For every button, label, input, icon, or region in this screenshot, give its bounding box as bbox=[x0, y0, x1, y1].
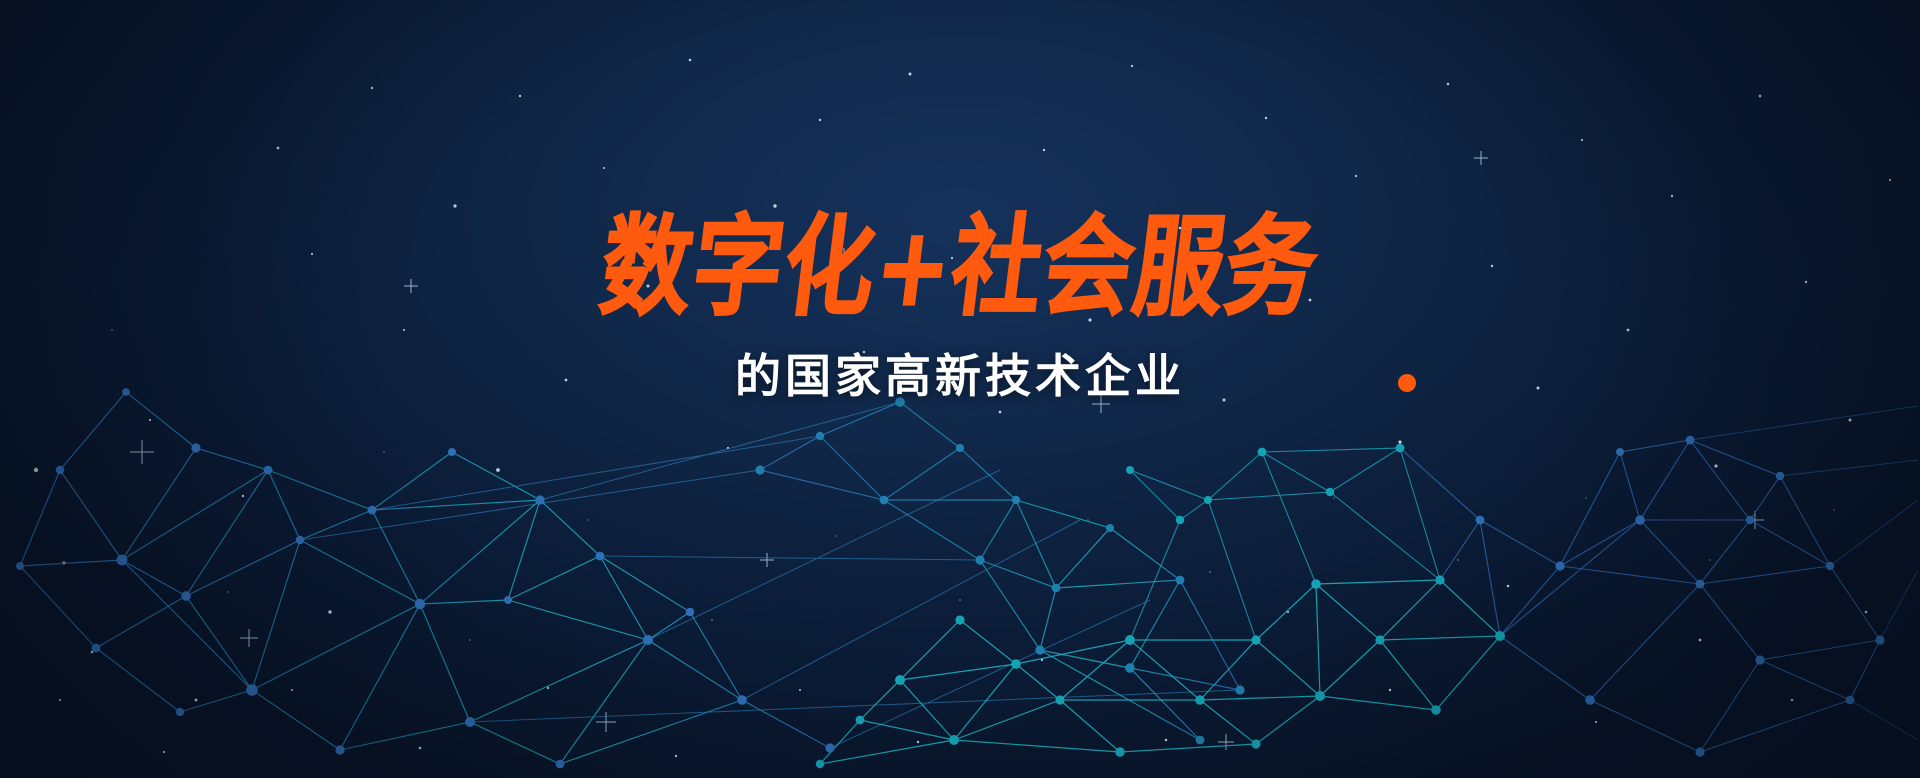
hero-banner: 数字化+社会服务 的国家高新技术企业 bbox=[0, 0, 1920, 778]
page-subtitle: 的国家高新技术企业 bbox=[0, 340, 1920, 406]
page-title: 数字化+社会服务 bbox=[22, 214, 1898, 323]
hero-text-block: 数字化+社会服务 的国家高新技术企业 bbox=[0, 222, 1920, 406]
